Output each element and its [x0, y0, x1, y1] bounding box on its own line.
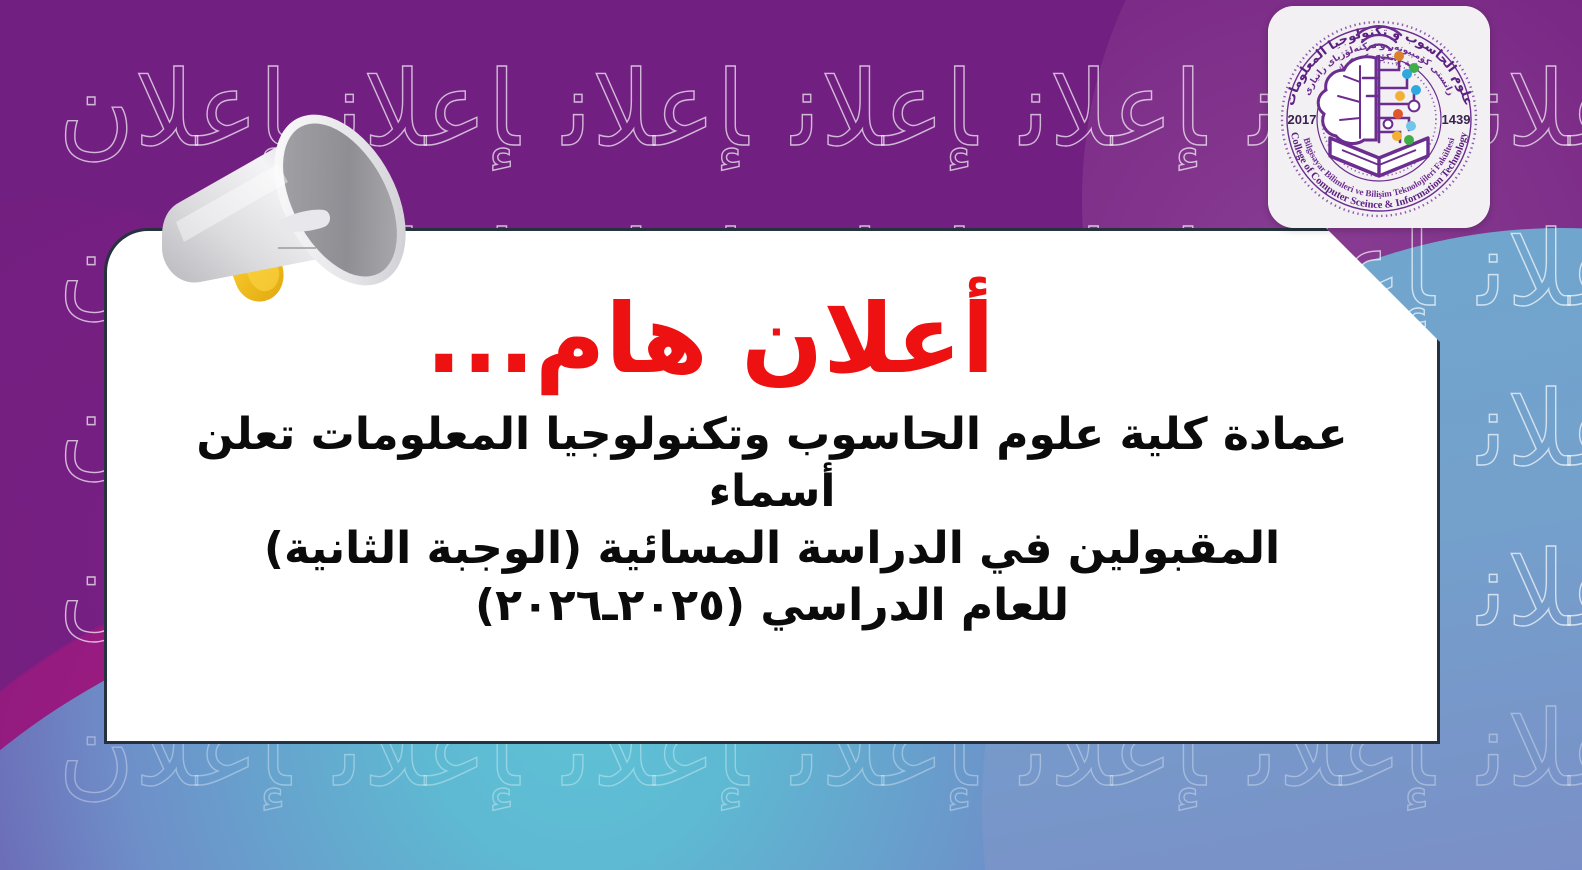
body-line: المقبولين في الدراسة المسائية (الوجبة ال…: [153, 520, 1391, 577]
college-logo: علوم الحاسوب و تكنولوجيا المعلومات زانست…: [1268, 6, 1490, 228]
announcement-body: عمادة كلية علوم الحاسوب وتكنولوجيا المعل…: [153, 406, 1391, 635]
logo-year-right: 1439: [1442, 112, 1471, 127]
logo-year-left: 2017: [1288, 112, 1317, 127]
announcement-card: أعلان هام... عمادة كلية علوم الحاسوب وتك…: [104, 228, 1440, 744]
body-line: للعام الدراسي (٢٠٢٥ـ٢٠٢٦): [153, 577, 1391, 634]
body-line: عمادة كلية علوم الحاسوب وتكنولوجيا المعل…: [153, 406, 1391, 520]
announcement-card-content: أعلان هام... عمادة كلية علوم الحاسوب وتك…: [107, 231, 1437, 741]
announcement-poster: إعلانإعلانإعلانإعلانإعلانإعلانإعلان إعلا…: [0, 0, 1582, 870]
headline-title: أعلان هام...: [425, 289, 994, 390]
